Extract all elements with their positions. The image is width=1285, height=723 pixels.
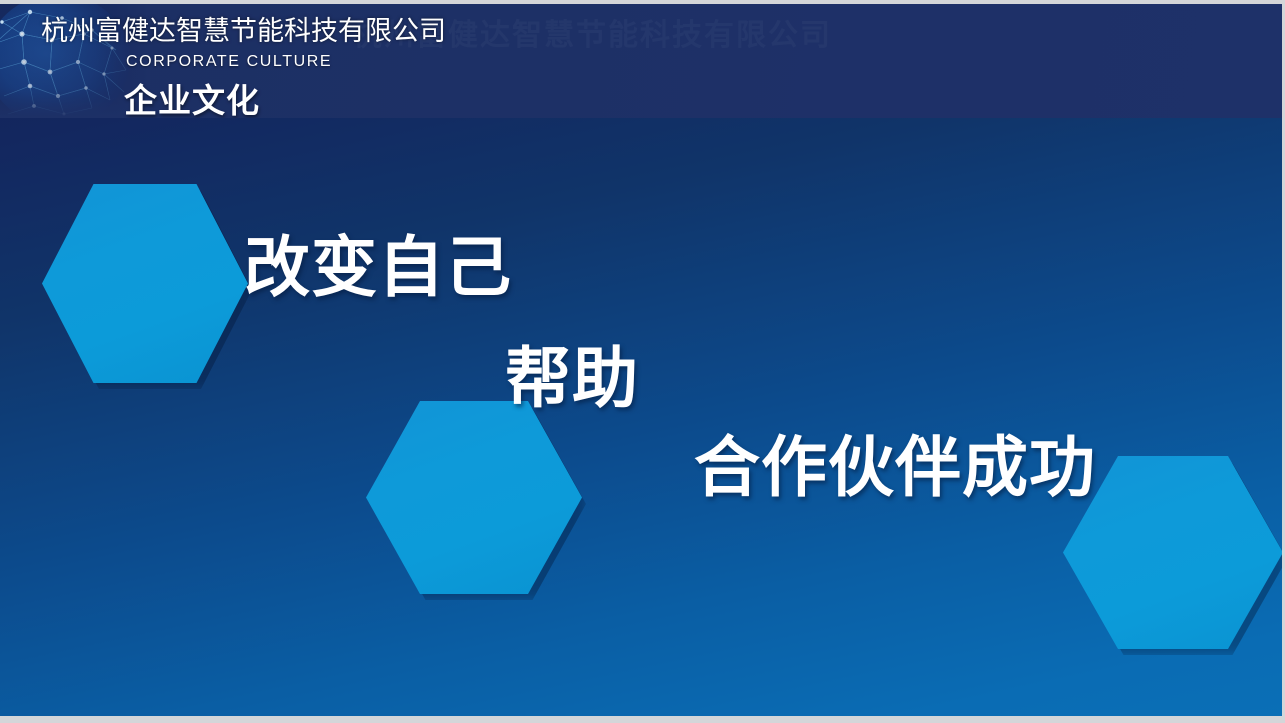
section-subtitle-en: CORPORATE CULTURE [126, 53, 332, 71]
slogan-help: 帮助 [505, 342, 639, 414]
page-title: 企业文化 [124, 74, 260, 118]
slogan-partner-success: 合作伙伴成功 [694, 431, 1096, 503]
slide-root: 杭州富健达智慧节能科技有限公司 [0, 0, 1285, 723]
slide-canvas: 杭州富健达智慧节能科技有限公司 [0, 4, 1282, 716]
slogan-change-yourself: 改变自己 [244, 231, 512, 303]
company-name: 杭州富健达智慧节能科技有限公司 [41, 15, 446, 47]
header-band: 杭州富健达智慧节能科技有限公司 [0, 4, 1282, 118]
